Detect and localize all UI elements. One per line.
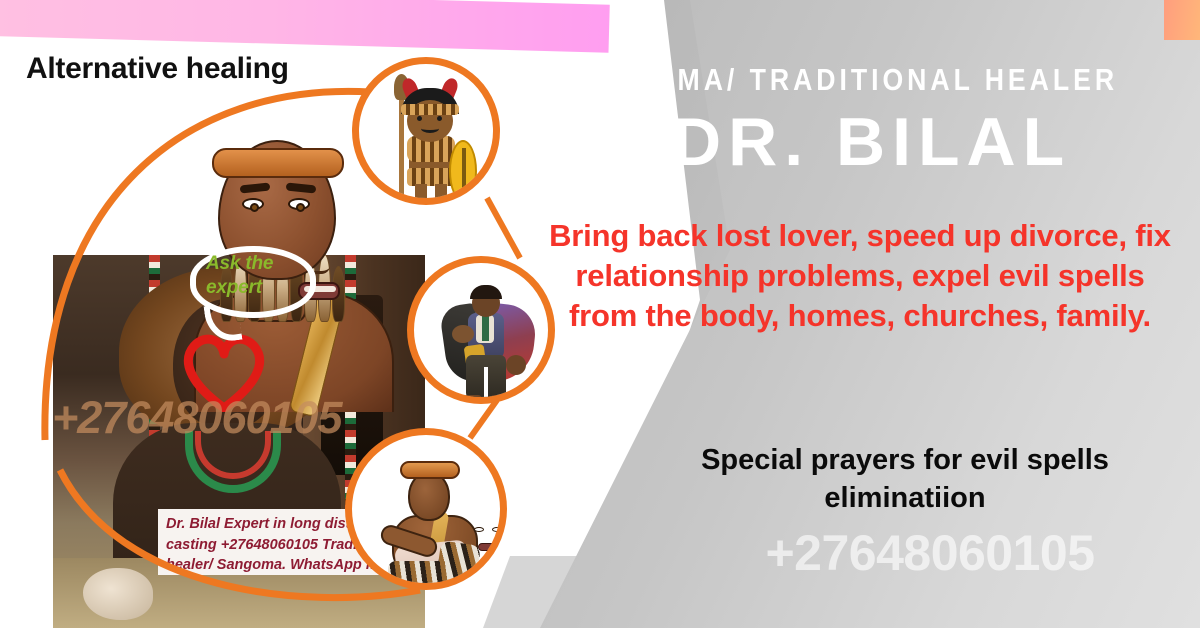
speech-bubble-text: Ask the expert	[206, 252, 316, 301]
illustration-headband	[212, 148, 344, 178]
circle-image-zulu-warrior	[352, 57, 500, 205]
services-text: Bring back lost lover, speed up divorce,…	[540, 216, 1180, 336]
ghost-phone-number: +27648060105	[660, 524, 1200, 582]
poster-canvas: Alternative healing +27648060105 Dr. Bil…	[0, 0, 1200, 628]
top-right-orange-band	[1164, 0, 1200, 40]
page-title: Alternative healing	[26, 52, 289, 86]
special-prayers-text: Special prayers for evil spells eliminat…	[620, 442, 1190, 517]
circle-image-robed-healer	[407, 256, 555, 404]
healer-name: DR. BILAL	[672, 108, 1071, 176]
circle-image-crouching-sangoma	[345, 428, 507, 590]
top-pink-band	[0, 0, 610, 53]
chicken	[83, 568, 153, 620]
kicker-text: SANGOMA/ TRADITIONAL HEALER	[560, 62, 1118, 98]
shield-icon	[449, 140, 477, 202]
